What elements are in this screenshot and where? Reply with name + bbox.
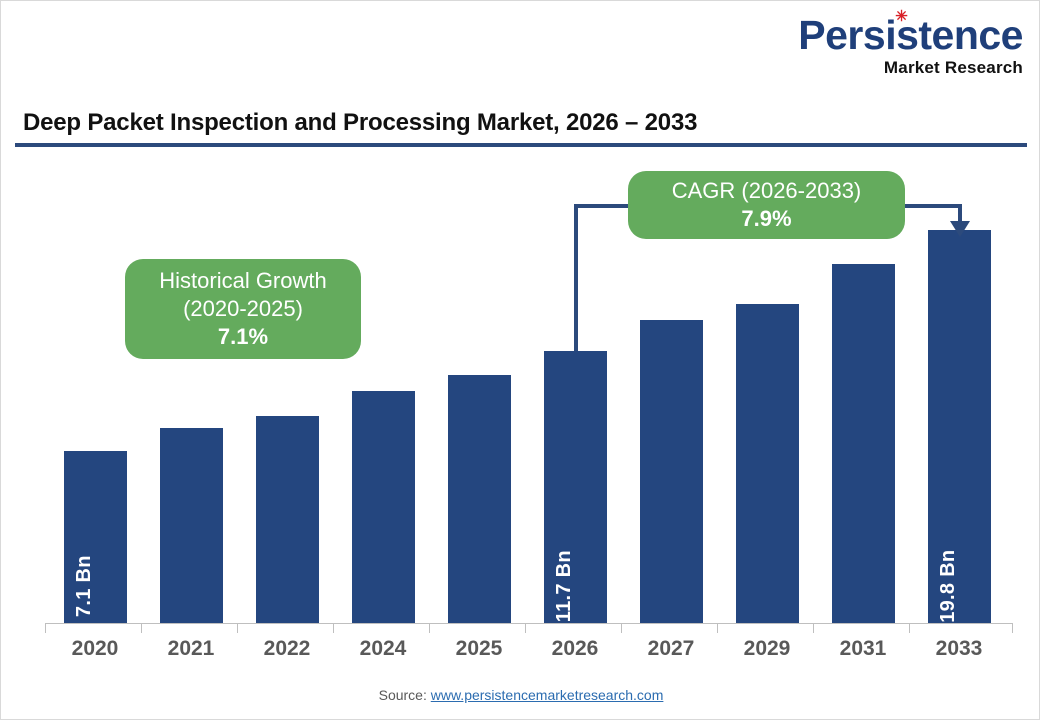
x-axis-tick	[45, 623, 46, 633]
bar-2029	[736, 304, 799, 623]
source-prefix: Source:	[379, 687, 431, 703]
x-axis-tick	[525, 623, 526, 633]
callout-historical-line1: Historical Growth	[159, 267, 326, 295]
brand-logo: Persistence ✳ Market Research	[773, 15, 1023, 76]
x-axis-label-2033: 2033	[911, 637, 1007, 661]
x-axis-label-2026: 2026	[527, 637, 623, 661]
callout-cagr-value: 7.9%	[741, 205, 791, 233]
source-link[interactable]: www.persistencemarketresearch.com	[431, 687, 664, 703]
source-line: Source: www.persistencemarketresearch.co…	[1, 687, 1040, 703]
bar-2021	[160, 428, 223, 623]
x-axis-tick	[717, 623, 718, 633]
bar-2025	[448, 375, 511, 623]
bar-2031	[832, 264, 895, 623]
bar-2033: US$ 19.8 Bn	[928, 230, 991, 623]
x-axis-tick	[333, 623, 334, 633]
title-divider	[15, 143, 1027, 147]
callout-historical-value: 7.1%	[218, 323, 268, 351]
x-axis-line	[45, 623, 1013, 624]
logo-wordmark-text: Persistence	[798, 12, 1023, 58]
page-title: Deep Packet Inspection and Processing Ma…	[23, 109, 697, 137]
bar-2022	[256, 416, 319, 623]
x-axis-label-2027: 2027	[623, 637, 719, 661]
x-axis-tick	[237, 623, 238, 633]
x-axis-label-2031: 2031	[815, 637, 911, 661]
x-axis-tick	[909, 623, 910, 633]
x-axis-tick	[141, 623, 142, 633]
x-axis-tick	[1012, 623, 1013, 633]
x-axis-labels: 2020 2021 2022 2024 2025 2026 2027 2029 …	[45, 637, 1013, 669]
x-axis-tick	[429, 623, 430, 633]
callout-historical-growth: Historical Growth (2020-2025) 7.1%	[125, 259, 361, 359]
x-axis-label-2029: 2029	[719, 637, 815, 661]
callout-cagr-line1: CAGR (2026-2033)	[672, 177, 862, 205]
x-axis-tick	[621, 623, 622, 633]
x-axis-label-2025: 2025	[431, 637, 527, 661]
bar-2027	[640, 320, 703, 623]
callout-historical-line2: (2020-2025)	[183, 295, 303, 323]
logo-subtitle: Market Research	[773, 59, 1023, 76]
bar-2024	[352, 391, 415, 623]
x-axis-label-2020: 2020	[47, 637, 143, 661]
logo-star-icon: ✳	[895, 11, 906, 22]
x-axis-label-2022: 2022	[239, 637, 335, 661]
logo-wordmark: Persistence ✳	[798, 15, 1023, 56]
chart-page: Persistence ✳ Market Research Deep Packe…	[0, 0, 1040, 720]
bar-2020: US$ 7.1 Bn	[64, 451, 127, 623]
x-axis-label-2021: 2021	[143, 637, 239, 661]
callout-cagr: CAGR (2026-2033) 7.9%	[628, 171, 905, 239]
bar-2026: US$ 11.7 Bn	[544, 351, 607, 623]
x-axis-label-2024: 2024	[335, 637, 431, 661]
x-axis-tick	[813, 623, 814, 633]
